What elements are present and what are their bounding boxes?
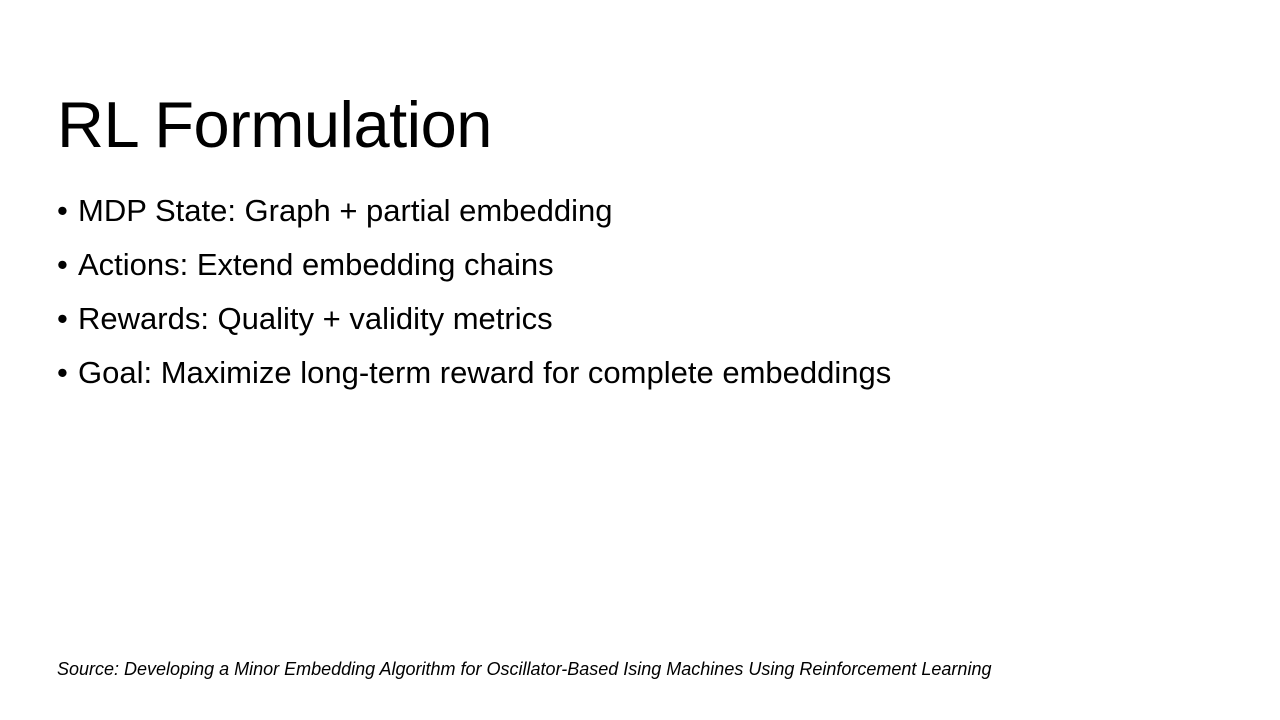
page-title: RL Formulation (57, 92, 1217, 157)
presentation-slide: RL Formulation •MDP State: Graph + parti… (0, 0, 1280, 720)
list-item: •MDP State: Graph + partial embedding (57, 184, 1227, 238)
list-item-label: MDP State: Graph + partial embedding (78, 184, 612, 238)
source-citation: Source: Developing a Minor Embedding Alg… (57, 657, 991, 681)
list-item: •Goal: Maximize long-term reward for com… (57, 346, 1227, 400)
list-item-label: Rewards: Quality + validity metrics (78, 292, 553, 346)
bullet-list: •MDP State: Graph + partial embedding •A… (57, 184, 1227, 400)
list-item-label: Actions: Extend embedding chains (78, 238, 554, 292)
bullet-point-icon: • (57, 184, 78, 238)
bullet-point-icon: • (57, 346, 78, 400)
list-item-label: Goal: Maximize long-term reward for comp… (78, 346, 891, 400)
list-item: •Rewards: Quality + validity metrics (57, 292, 1227, 346)
bullet-point-icon: • (57, 292, 78, 346)
bullet-point-icon: • (57, 238, 78, 292)
list-item: •Actions: Extend embedding chains (57, 238, 1227, 292)
